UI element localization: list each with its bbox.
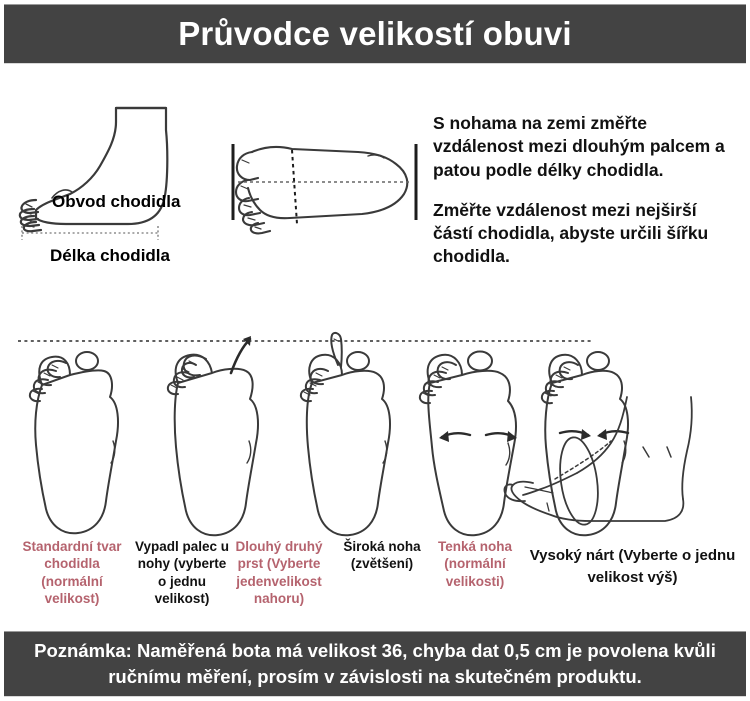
caption-long-second-toe: Dlouhý druhý prst (Vyberte jedenvelikost…	[224, 538, 334, 607]
high-instep-foot-diagram	[495, 395, 745, 545]
sole-fallen-toe	[168, 355, 258, 536]
footer-band: Poznámka: Naměřená bota má velikost 36, …	[4, 631, 746, 697]
sole-standard	[30, 352, 118, 533]
footer-note: Poznámka: Naměřená bota má velikost 36, …	[4, 638, 746, 691]
caption-high-instep: Vysoký nárt (Vyberte o jednu velikost vý…	[520, 545, 745, 589]
high-instep-foot-svg	[495, 395, 745, 540]
label-foot-length: Délka chodidla	[50, 246, 170, 266]
label-foot-circumference: Obvod chodidla	[52, 192, 180, 212]
instructions-block: S nohama na zemi změřte vzdálenost mezi …	[433, 112, 733, 269]
top-view-foot-diagram	[218, 122, 428, 247]
side-profile-foot-svg	[8, 100, 208, 260]
instruction-paragraph-2: Změřte vzdálenost mezi nejširší částí ch…	[433, 199, 733, 269]
arrow-up-fallen-toe	[231, 336, 251, 373]
top-view-foot-svg	[218, 122, 428, 242]
caption-fallen-toe: Vypadl palec u nohy (vyberte o jednu vel…	[134, 538, 230, 607]
sole-long-second-toe	[301, 333, 390, 535]
side-profile-foot-diagram	[8, 100, 208, 265]
caption-standard-foot: Standardní tvar chodidla (normální velik…	[12, 538, 132, 607]
header-band: Průvodce velikostí obuvi	[4, 4, 746, 64]
caption-wide-foot: Široká noha (zvětšení)	[330, 538, 434, 573]
instruction-paragraph-1: S nohama na zemi změřte vzdálenost mezi …	[433, 112, 733, 182]
caption-thin-foot: Tenká noha (normální velikosti)	[425, 538, 525, 590]
page-title: Průvodce velikostí obuvi	[178, 16, 572, 52]
